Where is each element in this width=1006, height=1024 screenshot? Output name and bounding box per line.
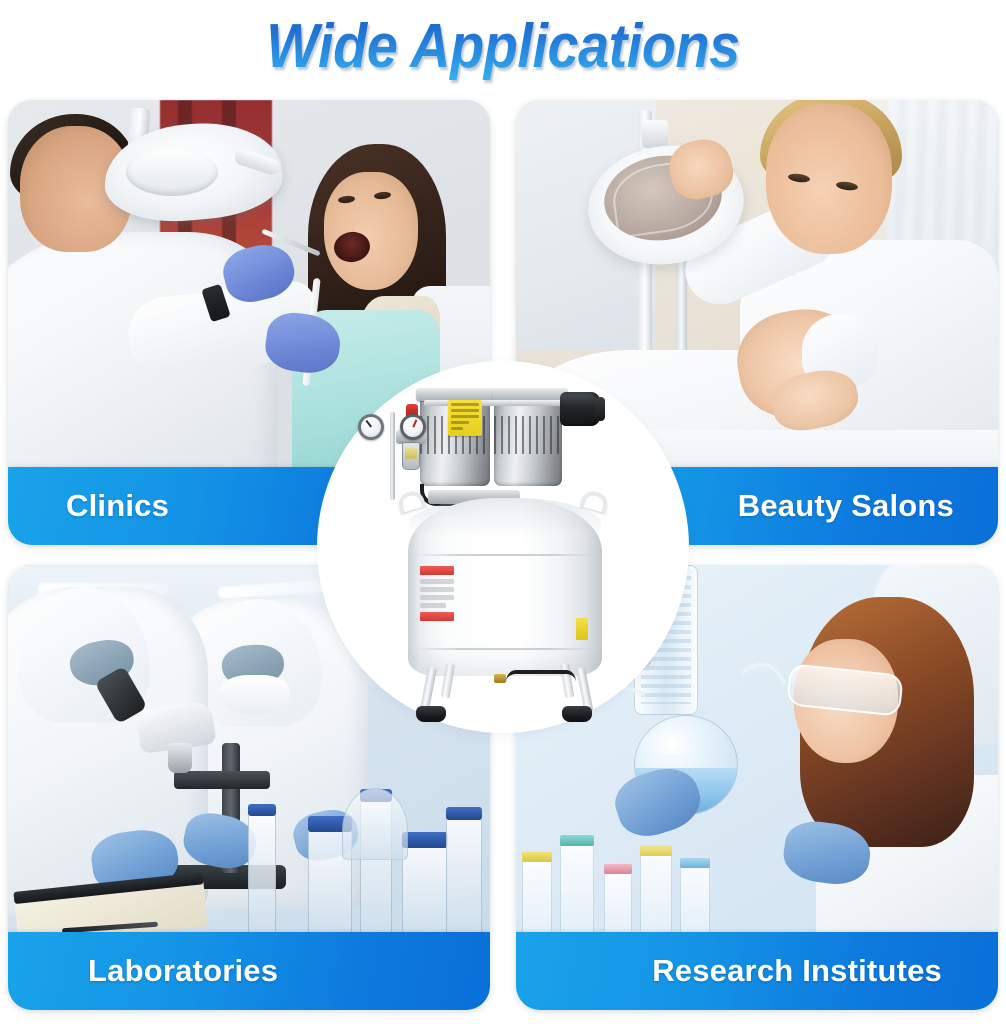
wide-applications-infographic: Wide Applications <box>0 0 1006 1024</box>
air-filter-icon <box>560 392 600 426</box>
research-flask-4-cap <box>640 845 672 856</box>
air-tank <box>408 498 602 676</box>
sticker-footer-bar <box>420 612 454 621</box>
glassware-cluster <box>516 820 716 950</box>
lab-bottle-2 <box>402 842 448 938</box>
research-flask-5-cap <box>680 858 710 868</box>
pressure-gauge-right <box>400 414 426 440</box>
research-flask-3-cap <box>604 864 632 874</box>
panel-label-bar-research-institutes: Research Institutes <box>516 932 998 1010</box>
scientist-2-mask <box>220 675 290 715</box>
product-air-compressor <box>324 368 682 726</box>
compressor-motor-head <box>410 386 600 498</box>
tank-weld-seam-top <box>414 554 596 556</box>
lab-cylinder-3 <box>446 814 482 938</box>
tank-warning-sticker <box>420 566 454 621</box>
panel-label-research-institutes: Research Institutes <box>652 953 998 989</box>
rubber-foot-left <box>416 706 446 722</box>
drain-valve <box>494 674 506 683</box>
sticker-header-bar <box>420 566 454 575</box>
under-tank-hose <box>506 670 576 682</box>
tank-weld-seam-bottom <box>414 648 596 650</box>
lab-cylinder-2 <box>248 810 276 938</box>
page-title: Wide Applications <box>266 11 739 82</box>
panel-label-clinics: Clinics <box>8 488 169 524</box>
panel-label-bar-laboratories: Laboratories <box>8 932 490 1010</box>
tank-yellow-tag <box>576 618 588 640</box>
pressure-gauge-left <box>358 414 384 440</box>
cylinder-right <box>494 394 562 486</box>
panel-label-beauty-salons: Beauty Salons <box>738 488 998 524</box>
lab-bottle-cap-2 <box>402 832 448 848</box>
patient-face <box>324 172 418 290</box>
rubber-foot-right <box>562 706 592 722</box>
head-crossbar <box>424 400 564 406</box>
beautician-head <box>766 104 892 254</box>
lab-cylinder-cap-3 <box>446 807 482 820</box>
water-filter-bowl <box>402 442 420 470</box>
panel-label-laboratories: Laboratories <box>8 953 278 989</box>
lab-cylinder-cap-2 <box>248 804 276 816</box>
research-flask-2-cap <box>560 835 594 846</box>
microscope-stage <box>174 771 270 789</box>
yellow-warning-label <box>448 400 482 436</box>
dental-lamp-reflector <box>126 148 218 196</box>
product-spotlight-circle <box>324 368 682 726</box>
microscope-objective <box>168 743 192 773</box>
sticker-text-rows <box>420 579 454 608</box>
cooling-fins-right <box>494 416 562 454</box>
research-flask-1-cap <box>522 852 552 862</box>
outlet-pipe <box>390 412 395 500</box>
page-title-container: Wide Applications <box>0 0 1006 92</box>
lamp-mount-clip <box>642 120 668 148</box>
